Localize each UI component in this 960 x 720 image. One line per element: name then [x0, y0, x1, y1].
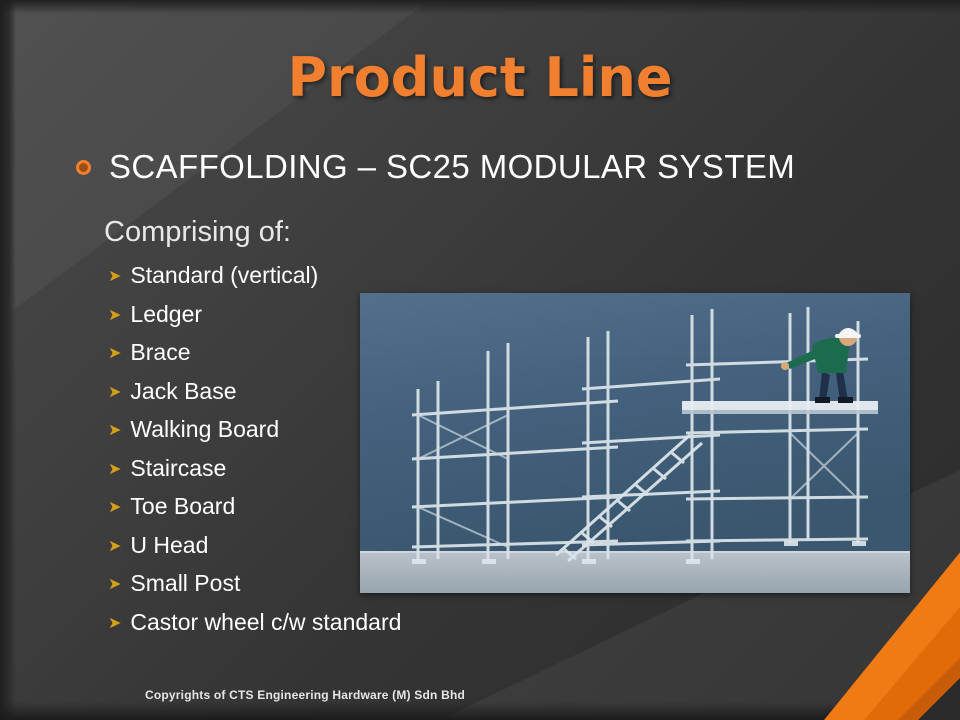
- list-item-label: Standard (vertical): [130, 262, 318, 289]
- scaffolding-photo-graphic: [360, 293, 910, 593]
- list-item-label: Small Post: [130, 570, 240, 597]
- list-item-label: Staircase: [130, 455, 226, 482]
- dark-corner-triangle: [918, 678, 960, 720]
- heading-text: SCAFFOLDING – SC25 MODULAR SYSTEM: [109, 148, 795, 186]
- list-item-label: Castor wheel c/w standard: [130, 609, 401, 636]
- arrow-bullet-icon: ➤: [108, 308, 121, 324]
- list-item-label: Ledger: [130, 301, 202, 328]
- list-item-label: Brace: [130, 339, 190, 366]
- arrow-bullet-icon: ➤: [108, 462, 121, 478]
- arrow-bullet-icon: ➤: [108, 269, 121, 285]
- list-item-label: Toe Board: [130, 493, 235, 520]
- arrow-bullet-icon: ➤: [108, 346, 121, 362]
- background-top-edge-shade: [0, 0, 960, 14]
- list-item-label: U Head: [130, 532, 208, 559]
- list-item: ➤ Castor wheel c/w standard: [108, 609, 448, 648]
- arrow-bullet-icon: ➤: [108, 616, 121, 632]
- circle-bullet-icon: [76, 160, 91, 175]
- arrow-bullet-icon: ➤: [108, 500, 121, 516]
- heading-row: SCAFFOLDING – SC25 MODULAR SYSTEM: [76, 148, 795, 186]
- list-item-label: Walking Board: [130, 416, 279, 443]
- slide-title: Product Line: [0, 46, 960, 109]
- subheading-text: Comprising of:: [104, 216, 291, 249]
- slide: Product Line SCAFFOLDING – SC25 MODULAR …: [0, 0, 960, 720]
- copyright-footer: Copyrights of CTS Engineering Hardware (…: [145, 688, 465, 702]
- arrow-bullet-icon: ➤: [108, 539, 121, 555]
- list-item-label: Jack Base: [130, 378, 236, 405]
- arrow-bullet-icon: ➤: [108, 577, 121, 593]
- arrow-bullet-icon: ➤: [108, 423, 121, 439]
- background-bottom-edge-shade: [0, 702, 960, 720]
- scaffolding-photo: [360, 293, 910, 593]
- arrow-bullet-icon: ➤: [108, 385, 121, 401]
